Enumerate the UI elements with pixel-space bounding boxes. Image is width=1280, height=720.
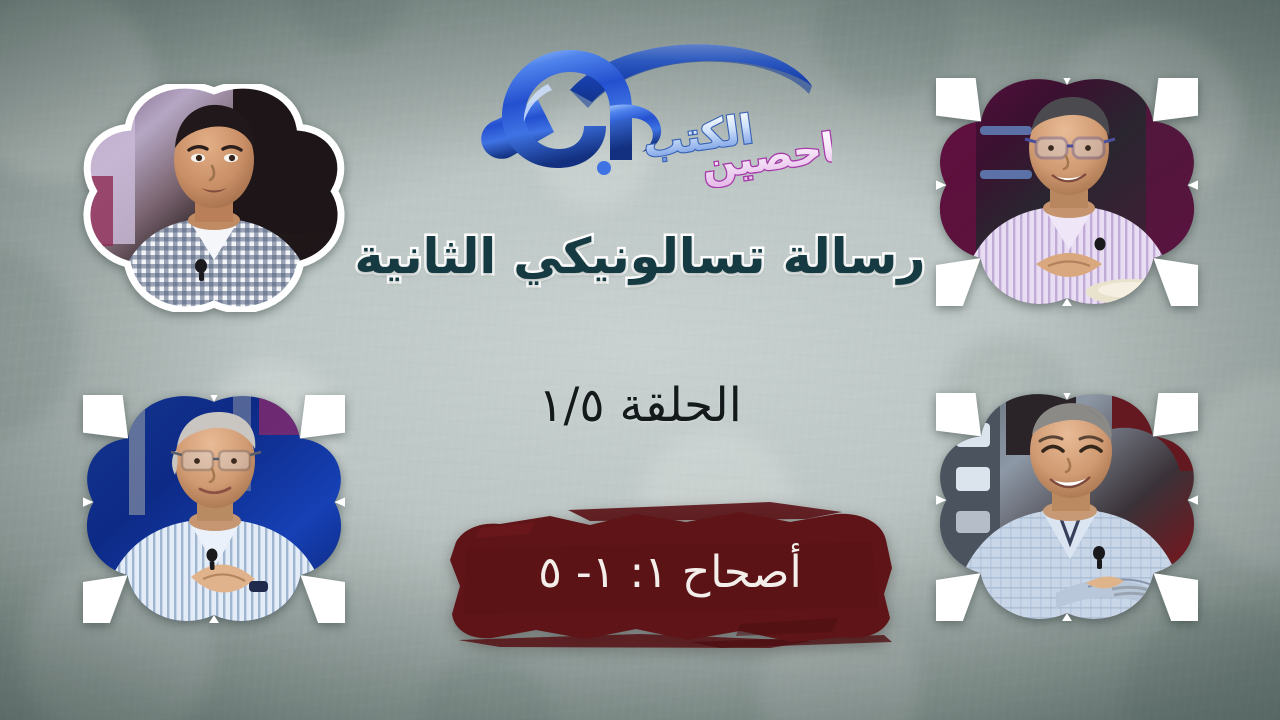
title-card: الكتب فاحصين bbox=[0, 0, 1280, 720]
page-title: رسالة تسالونيكي الثانية bbox=[0, 228, 1280, 285]
logo-dot bbox=[597, 161, 611, 175]
program-logo: الكتب فاحصين bbox=[452, 28, 832, 188]
episode-label: الحلقة ١/٥ bbox=[0, 378, 1280, 433]
verse-reference-banner: أصحاح ١: ١- ٥ bbox=[440, 498, 900, 650]
verse-reference-text: أصحاح ١: ١- ٥ bbox=[440, 498, 900, 650]
